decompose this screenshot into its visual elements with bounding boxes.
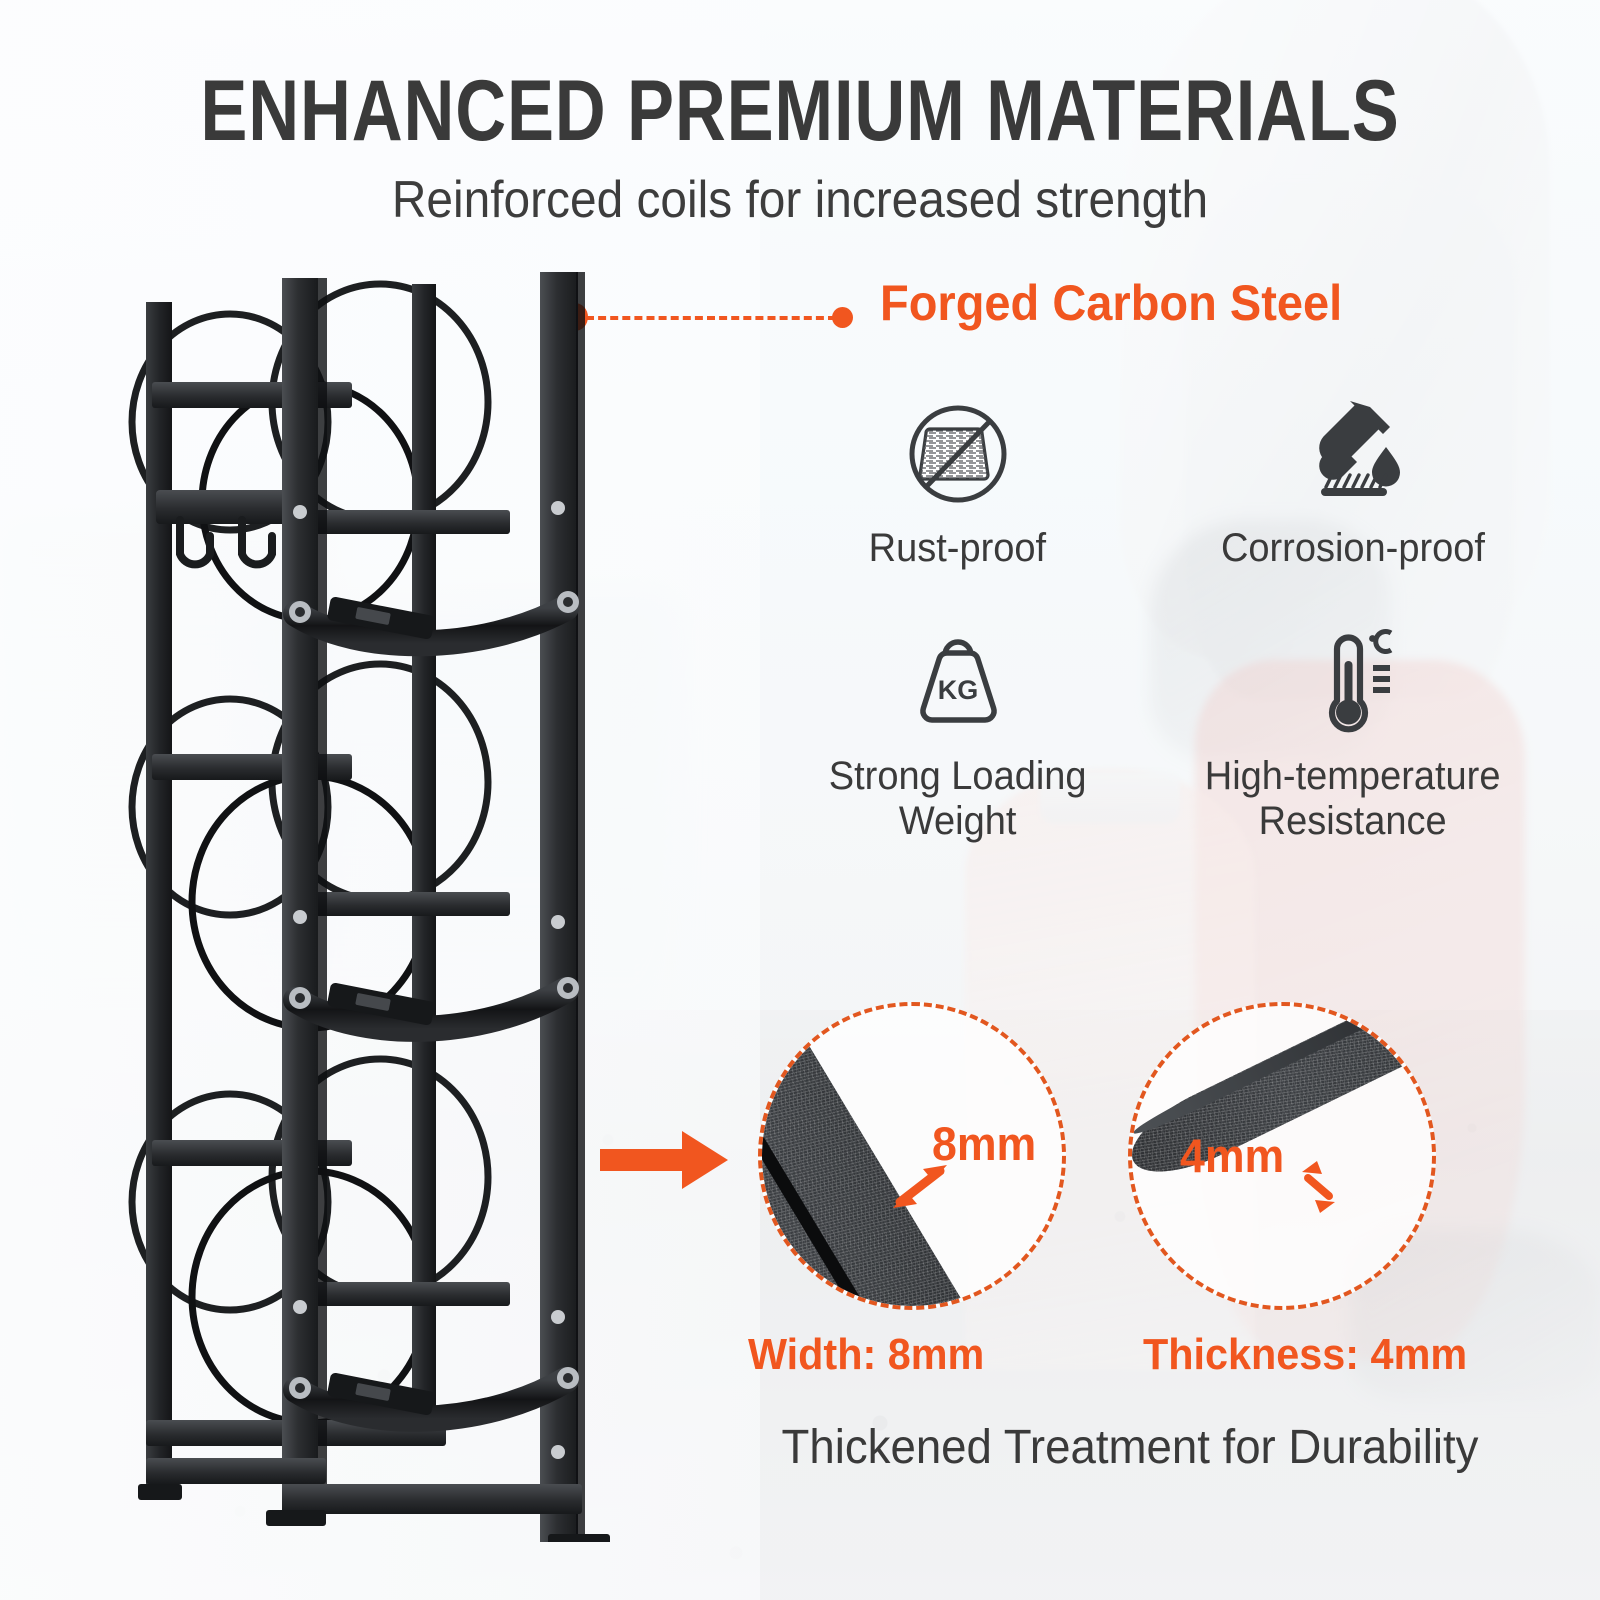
product-infographic: ENHANCED PREMIUM MATERIALS Reinforced co… xyxy=(0,0,1600,1600)
zoom-circle-thickness-content: 4mm xyxy=(1132,1006,1432,1306)
svg-text:KG: KG xyxy=(937,675,978,705)
callout-bullet-dot xyxy=(832,307,853,328)
feature-label: Strong Loading Weight xyxy=(829,754,1087,845)
feature-label: High-temperature Resistance xyxy=(1205,754,1501,845)
page-subtitle: Reinforced coils for increased strength xyxy=(64,170,1536,230)
corrosion-proof-icon xyxy=(1291,392,1415,516)
thickness-measure-label: 4mm xyxy=(1180,1128,1284,1183)
width-measure-label: 8mm xyxy=(932,1116,1036,1171)
thermometer-icon xyxy=(1291,620,1415,744)
zoom-pointer-arrow xyxy=(600,1128,730,1192)
feature-label: Rust-proof xyxy=(869,526,1046,572)
zoom-circle-width: 8mm xyxy=(758,1002,1066,1310)
spec-caption-row: Width: 8mm Thickness: 4mm xyxy=(748,1330,1488,1380)
feature-grid: Rust-proof xyxy=(760,392,1550,845)
callout-connector: Forged Carbon Steel xyxy=(562,296,1442,348)
feature-strong-loading-weight: KG Strong Loading Weight xyxy=(760,620,1155,845)
page-title: ENHANCED PREMIUM MATERIALS xyxy=(144,62,1456,161)
feature-label: Corrosion-proof xyxy=(1220,526,1484,572)
callout-label: Forged Carbon Steel xyxy=(880,274,1342,332)
kg-weight-icon: KG xyxy=(896,620,1020,744)
zoom-circle-thickness: 4mm xyxy=(1128,1002,1436,1310)
feature-rust-proof: Rust-proof xyxy=(760,392,1155,572)
product-image-cylinder-rack xyxy=(60,262,620,1542)
spec-width: Width: 8mm xyxy=(748,1330,984,1380)
rust-proof-icon xyxy=(896,392,1020,516)
footer-tagline: Thickened Treatment for Durability xyxy=(760,1420,1501,1475)
spec-thickness: Thickness: 4mm xyxy=(1143,1330,1467,1380)
callout-dashed-line xyxy=(586,316,836,320)
zoom-circle-width-content: 8mm xyxy=(762,1006,1062,1306)
feature-corrosion-proof: Corrosion-proof xyxy=(1155,392,1550,572)
feature-high-temperature-resistance: High-temperature Resistance xyxy=(1155,620,1550,845)
